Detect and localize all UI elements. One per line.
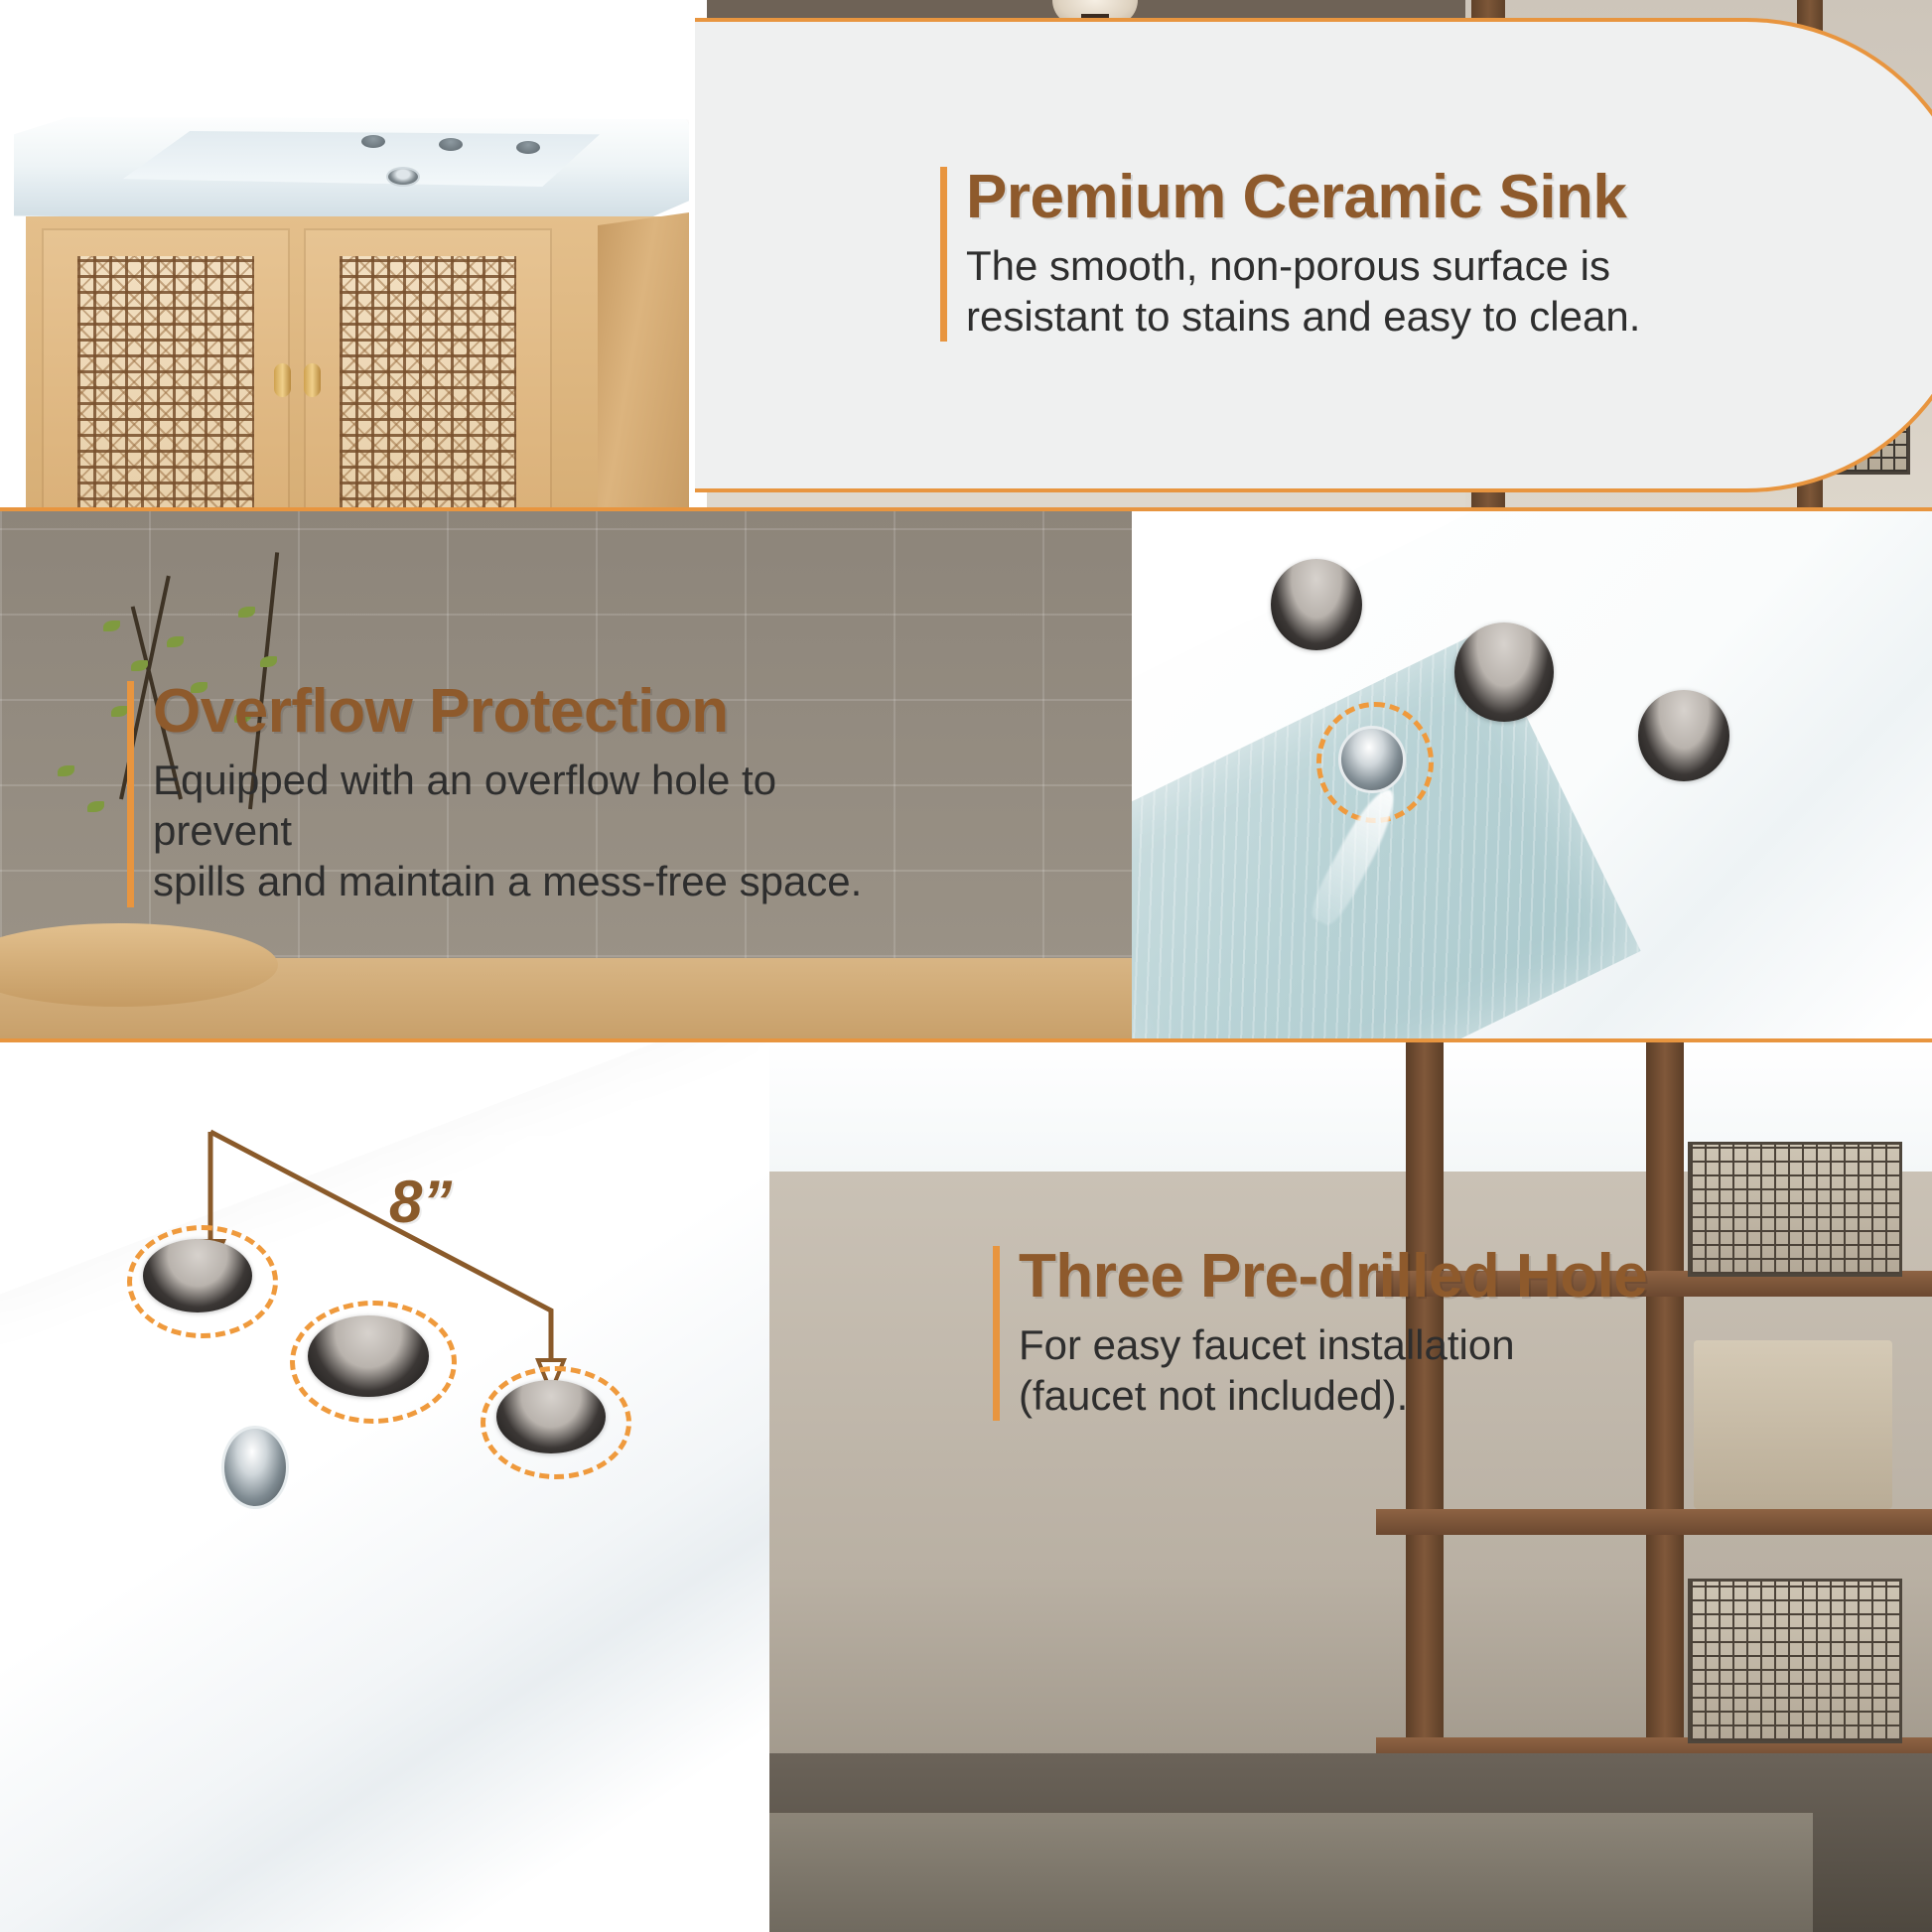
infographic-page: Premium Ceramic Sink The smooth, non-por…	[0, 0, 1932, 1932]
feature-2-text-block: Overflow Protection Equipped with an ove…	[127, 681, 921, 907]
room-shelf-scene-3	[769, 1042, 1932, 1932]
feature-row-1: Premium Ceramic Sink The smooth, non-por…	[0, 0, 1932, 511]
vanity-product-photo	[0, 0, 707, 511]
hole-highlight-ring-2	[290, 1301, 457, 1424]
feature-1-text-block: Premium Ceramic Sink The smooth, non-por…	[940, 167, 1695, 342]
dimension-label: 8”	[389, 1168, 452, 1236]
feature-1-description-line-1: The smooth, non-porous surface is	[966, 240, 1695, 291]
feature-3-description-line-1: For easy faucet installation	[1019, 1319, 1787, 1370]
feature-2-description-line-1: Equipped with an overflow hole to preven…	[153, 755, 921, 856]
feature-3-description-line-2: (faucet not included).	[1019, 1370, 1787, 1421]
dimension-callout	[0, 1042, 769, 1932]
overflow-hole-photo	[1132, 511, 1932, 1042]
feature-row-3: 8”	[0, 1042, 1932, 1932]
accent-bar-icon	[127, 681, 134, 907]
feature-2-title: Overflow Protection	[153, 681, 921, 743]
hole-highlight-ring-3	[481, 1366, 631, 1479]
overflow-hole-icon	[221, 1426, 289, 1509]
accent-bar-icon	[993, 1246, 1000, 1421]
feature-1-title: Premium Ceramic Sink	[966, 167, 1695, 228]
feature-3-title: Three Pre-drilled Hole	[1019, 1246, 1787, 1308]
pre-drilled-holes-photo: 8”	[0, 1042, 769, 1932]
accent-bar-icon	[940, 167, 947, 342]
feature-2-description-line-2: spills and maintain a mess-free space.	[153, 856, 921, 906]
feature-row-2: Overflow Protection Equipped with an ove…	[0, 511, 1932, 1042]
hole-highlight-ring-1	[127, 1225, 278, 1338]
feature-3-text-block: Three Pre-drilled Hole For easy faucet i…	[993, 1246, 1787, 1421]
feature-1-description-line-2: resistant to stains and easy to clean.	[966, 291, 1695, 342]
